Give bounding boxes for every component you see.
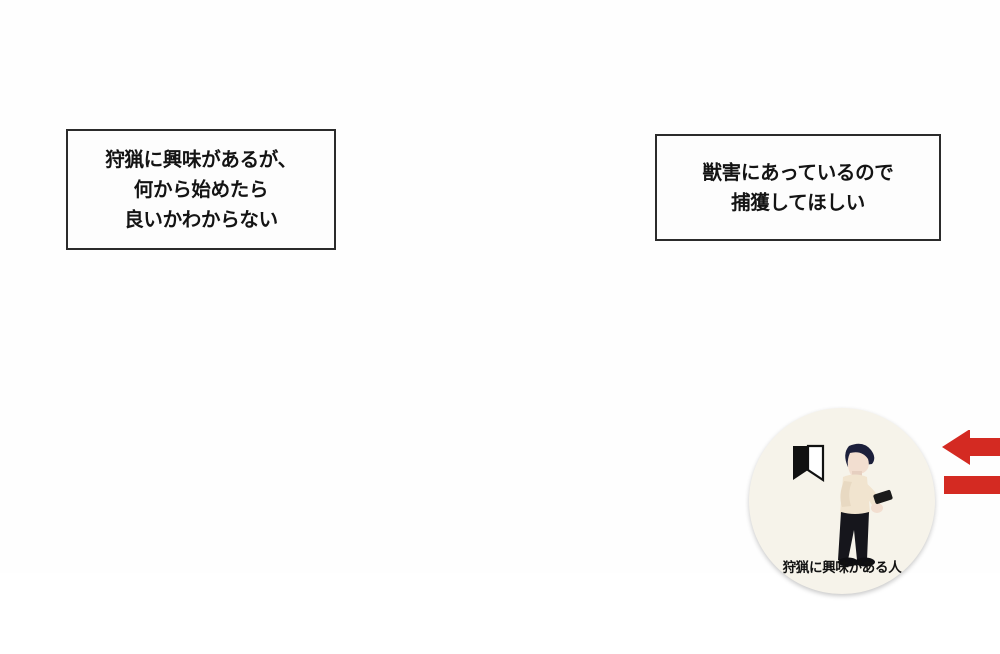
speech-bubble-right-line-1: 獣害にあっているので — [702, 158, 893, 188]
actor-circle-left-caption: 狩猟に興味がある人 — [749, 556, 935, 576]
actor-circle-hunter-candidate: 狩猟に興味がある人 — [749, 408, 935, 594]
arrow-pointing-left-icon — [942, 430, 1000, 465]
person-with-smartphone-icon — [777, 428, 907, 568]
diagram-canvas: 狩猟に興味があるが、 何から始めたら 良いかわからない 獣害にあっているので 捕… — [0, 0, 1000, 573]
arrow-pointing-right-icon — [944, 467, 1000, 503]
speech-bubble-right-line-2: 捕獲してほしい — [731, 188, 865, 218]
speech-bubble-left-line-2: 何から始めたら — [134, 175, 268, 205]
speech-bubble-left-line-1: 狩猟に興味があるが、 — [105, 145, 297, 175]
speech-bubble-left: 狩猟に興味があるが、 何から始めたら 良いかわからない — [66, 129, 336, 250]
arrows-left-pair — [940, 430, 1000, 508]
speech-bubble-right: 獣害にあっているので 捕獲してほしい — [655, 134, 941, 241]
speech-bubble-left-line-3: 良いかわからない — [124, 205, 278, 235]
